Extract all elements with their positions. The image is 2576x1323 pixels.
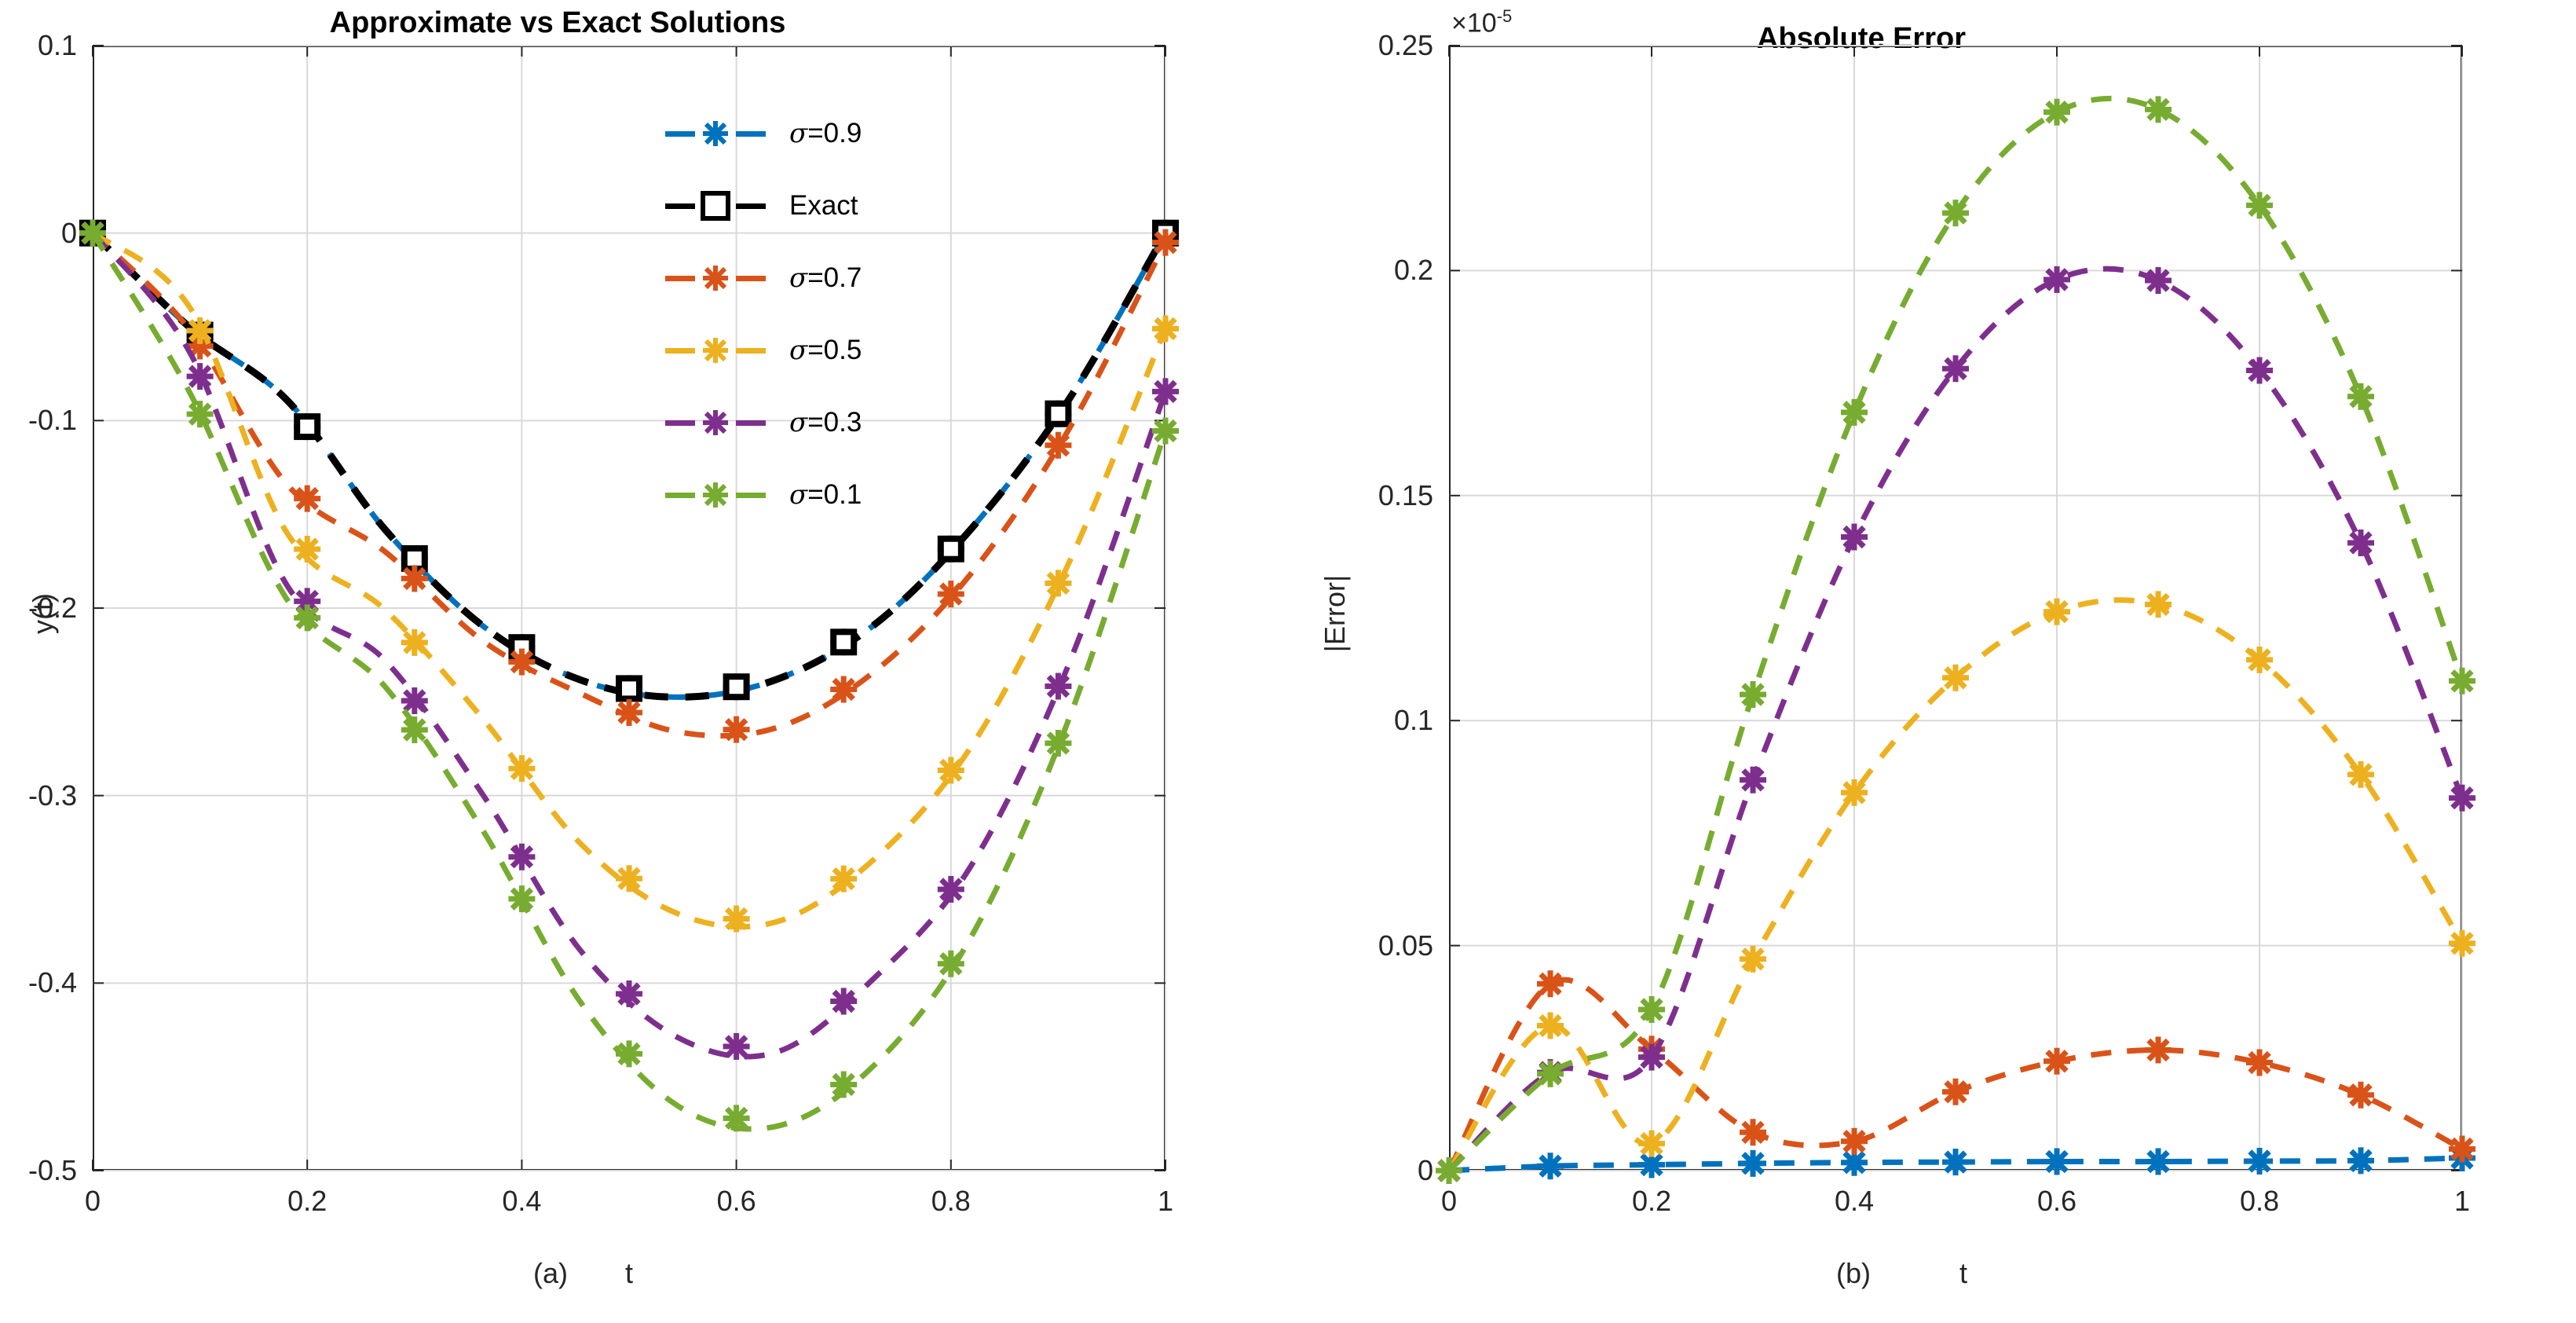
legend-label-sigma-09: σ=0.9	[789, 118, 862, 149]
legend-item-sigma-05[interactable]: σ=0.5	[664, 327, 978, 374]
ytick-label: 0.25	[1268, 29, 1433, 62]
legend-item-sigma-01[interactable]: σ=0.1	[664, 471, 978, 519]
xtick-label: 0.6	[2037, 1185, 2077, 1218]
ytick-label: -0.2	[0, 592, 77, 625]
xtick-label: 0.2	[287, 1185, 327, 1218]
ytick-label: -0.1	[0, 404, 77, 437]
legend-item-sigma-09[interactable]: σ=0.9	[664, 110, 978, 157]
xtick-label: 0	[1441, 1185, 1457, 1218]
panel-absolute-error: Absolute Error ×10-5 |Error| t (b) 0.250…	[1288, 0, 2576, 1323]
ytick-label: 0.1	[1268, 704, 1433, 737]
panel-b-tag: (b)	[1775, 1257, 1932, 1290]
xtick-label: 1	[2454, 1185, 2470, 1218]
legend-marker-sigma-09	[664, 115, 767, 152]
series-4	[79, 220, 1179, 1060]
xtick-label: 0.2	[1632, 1185, 1671, 1218]
legend-marker-sigma-05	[664, 332, 767, 369]
xtick-label: 1	[1158, 1185, 1173, 1218]
series-0	[1436, 1145, 2475, 1184]
ytick-label: 0.15	[1268, 479, 1433, 512]
figure-root: Approximate vs Exact Solutions y(t) t (a…	[0, 0, 2576, 1323]
xtick-label: 0.4	[502, 1185, 541, 1218]
legend-marker-sigma-01	[664, 476, 767, 514]
series-0	[79, 220, 1179, 702]
xtick-label: 0.4	[1835, 1185, 1874, 1218]
legend-label-exact: Exact	[789, 190, 858, 222]
series-3	[79, 220, 1179, 933]
legend-label-sigma-03: σ=0.3	[789, 407, 862, 438]
legend-marker-exact	[664, 187, 767, 225]
ytick-label: -0.4	[0, 966, 77, 999]
ytick-label: -0.5	[0, 1154, 77, 1187]
panel-a-plot-area	[0, 0, 1288, 1323]
xtick-label: 0.6	[717, 1185, 756, 1218]
panel-approximate-vs-exact: Approximate vs Exact Solutions y(t) t (a…	[0, 0, 1288, 1323]
ytick-label: 0.1	[0, 29, 77, 62]
legend-marker-sigma-07	[664, 259, 767, 297]
xtick-label: 0.8	[931, 1185, 971, 1218]
legend-label-sigma-07: σ=0.7	[789, 262, 862, 294]
legend-label-sigma-05: σ=0.5	[789, 335, 862, 366]
legend-item-sigma-03[interactable]: σ=0.3	[664, 399, 978, 446]
ytick-label: 0	[1268, 1154, 1433, 1187]
series-1	[82, 223, 1176, 699]
ytick-label: 0.2	[1268, 254, 1433, 287]
legend-label-sigma-01: σ=0.1	[789, 479, 862, 511]
xtick-label: 0.8	[2240, 1185, 2279, 1218]
legend-item-exact[interactable]: Exact	[664, 182, 978, 229]
ytick-label: 0	[0, 217, 77, 250]
series-3	[1436, 266, 2475, 1184]
xtick-label: 0	[85, 1185, 101, 1218]
legend-marker-sigma-03	[664, 404, 767, 442]
panel-a-tag: (a)	[472, 1257, 629, 1290]
legend-item-sigma-07[interactable]: σ=0.7	[664, 255, 978, 302]
panel-a-legend: σ=0.9 Exact σ=0.7	[664, 110, 978, 479]
panel-b-ylabel: |Error|	[1319, 535, 1352, 692]
series-4	[1436, 96, 2475, 1184]
ytick-label: -0.3	[0, 779, 77, 812]
ytick-label: 0.05	[1268, 929, 1433, 962]
panel-b-plot-area	[1288, 0, 2576, 1323]
